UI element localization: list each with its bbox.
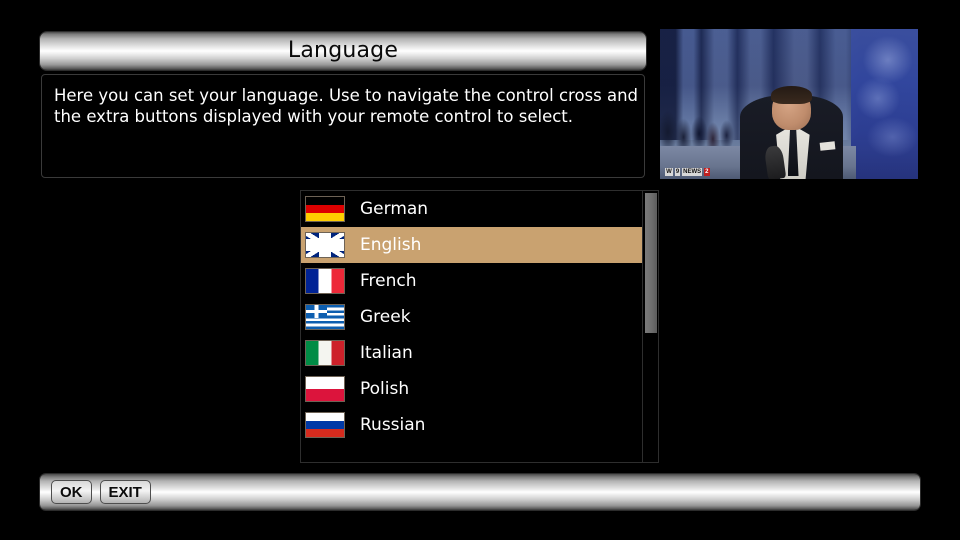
- polish-flag-icon: [305, 376, 345, 402]
- french-flag-icon: [305, 268, 345, 294]
- list-item-label: Polish: [360, 381, 409, 398]
- italian-flag-icon: [305, 340, 345, 366]
- channel-logo-part: 9: [675, 168, 680, 176]
- video-presenter-hair: [771, 86, 812, 104]
- tv-settings-screen: Language Here you can set your language.…: [0, 0, 960, 540]
- video-preview[interactable]: W 9 NEWS 2: [660, 29, 918, 179]
- description-line: Here you can set your language. Use to n…: [54, 85, 632, 106]
- language-list: German English French Greek Italian Poli: [301, 191, 642, 443]
- list-item[interactable]: German: [301, 191, 642, 227]
- english-flag-icon: [305, 232, 345, 258]
- video-banner-art: [851, 35, 918, 173]
- list-item-label: English: [360, 237, 421, 254]
- list-item[interactable]: Polish: [301, 371, 642, 407]
- list-item-label: French: [360, 273, 417, 290]
- channel-logo-part: W: [665, 168, 673, 176]
- channel-logo-part: 2: [704, 168, 709, 176]
- scrollbar[interactable]: [642, 191, 658, 462]
- scrollbar-thumb[interactable]: [645, 193, 657, 333]
- description-box: Here you can set your language. Use to n…: [41, 74, 645, 178]
- list-item[interactable]: Italian: [301, 335, 642, 371]
- german-flag-icon: [305, 196, 345, 222]
- greek-flag-icon: [305, 304, 345, 330]
- list-item-label: Greek: [360, 309, 411, 326]
- page-title: Language: [288, 40, 398, 62]
- language-list-panel: German English French Greek Italian Poli: [300, 190, 659, 463]
- list-item[interactable]: French: [301, 263, 642, 299]
- list-item-label: Italian: [360, 345, 413, 362]
- ok-button[interactable]: OK: [51, 480, 92, 504]
- list-item[interactable]: English: [301, 227, 642, 263]
- list-item-label: Russian: [360, 417, 425, 434]
- russian-flag-icon: [305, 412, 345, 438]
- description-line: the extra buttons displayed with your re…: [54, 106, 632, 127]
- bottom-action-bar: OK EXIT: [40, 474, 920, 510]
- list-item-label: German: [360, 201, 428, 218]
- exit-button[interactable]: EXIT: [100, 480, 151, 504]
- channel-logo-part: NEWS: [682, 168, 702, 176]
- video-presenter-pocket-square: [820, 141, 836, 150]
- title-bar: Language: [40, 32, 646, 70]
- list-item[interactable]: Greek: [301, 299, 642, 335]
- list-item[interactable]: Russian: [301, 407, 642, 443]
- channel-logo: W 9 NEWS 2: [665, 168, 709, 176]
